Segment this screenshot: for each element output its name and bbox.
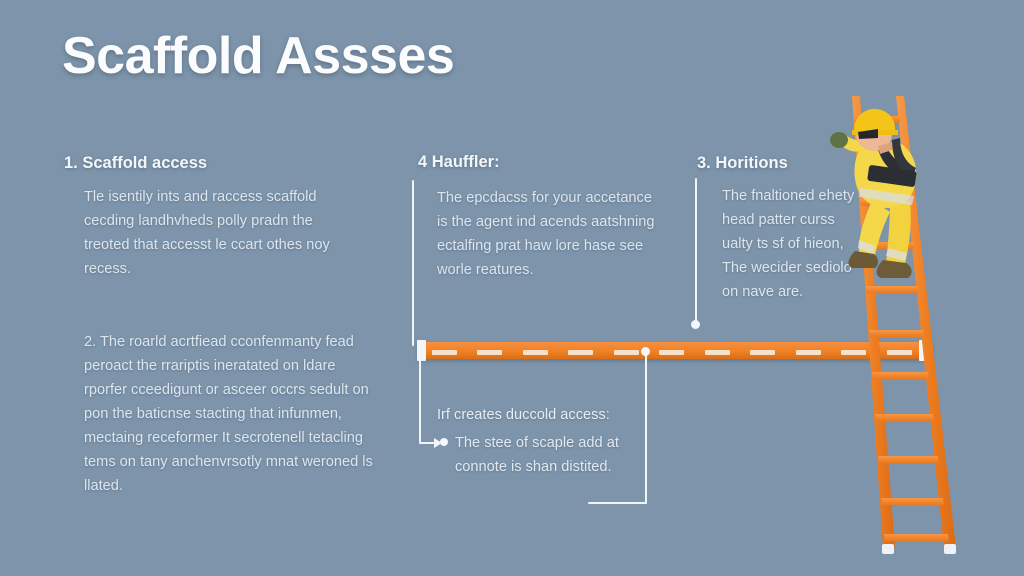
section-body-hauffler: The epcdacss for your accetance is the a… [437, 186, 662, 282]
column-divider-line-right [695, 178, 697, 326]
plank-dash-marking [432, 350, 457, 355]
column-divider-line-middle [412, 180, 414, 346]
leader-dot-center [641, 347, 650, 356]
leader-dot-right [691, 320, 700, 329]
callout-heading: Irf creates duccold access: [437, 407, 610, 423]
plank-dash-marking [659, 350, 684, 355]
section-heading-scaffold-access: 1. Scaffold access [64, 154, 207, 173]
leader-dot-callout [440, 438, 448, 446]
section-body-item-2: 2. The roarld acrtfiead cconfenmanty fea… [84, 330, 374, 498]
plank-dash-marking [705, 350, 730, 355]
leader-line-center-horizontal [588, 502, 647, 504]
plank-dash-marking [614, 350, 639, 355]
section-heading-hauffler: 4 Hauffler: [418, 153, 500, 172]
plank-dash-marking [477, 350, 502, 355]
ladder-foot-left [882, 544, 894, 554]
leader-line-callout-vertical [419, 352, 421, 444]
section-body-scaffold-access: Tle isentily ints and raccess scaffold c… [84, 185, 359, 281]
page-title: Scaffold Assses [62, 26, 454, 86]
worker-svg [828, 108, 948, 298]
plank-dash-marking [750, 350, 775, 355]
worker-climbing-ladder [828, 108, 948, 298]
callout-body: The stee of scaple add at connote is sha… [455, 431, 635, 479]
plank-dash-marking [796, 350, 821, 355]
leader-line-center-vertical [645, 352, 647, 504]
poster-canvas: Scaffold Assses 1. Scaffold access Tle i… [0, 0, 1024, 576]
section-heading-horitions: 3. Horitions [697, 154, 788, 173]
plank-dash-marking [523, 350, 548, 355]
ladder-foot-right [944, 544, 956, 554]
plank-dash-marking [568, 350, 593, 355]
